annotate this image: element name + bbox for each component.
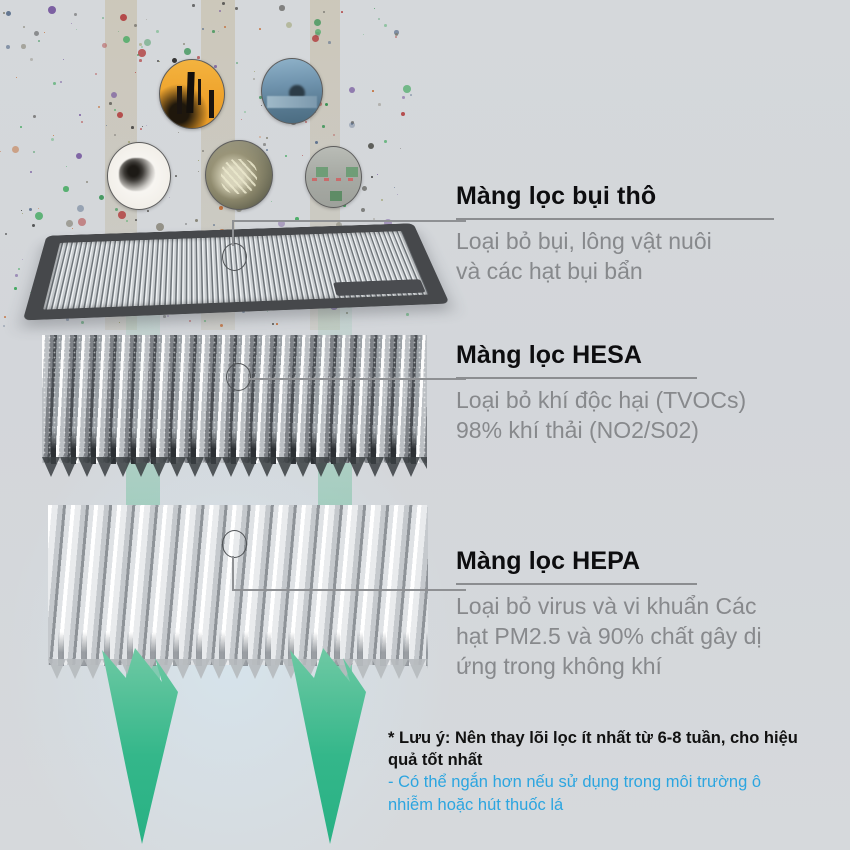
particle [169, 197, 170, 198]
particle [381, 199, 383, 201]
particle [146, 19, 147, 20]
label-title-hesa: Màng lọc HESA [456, 342, 840, 370]
particle [44, 32, 45, 33]
particle [156, 30, 159, 33]
particle [53, 82, 56, 85]
particle [362, 186, 367, 191]
particle [29, 208, 32, 211]
particle [254, 71, 255, 72]
particle [279, 5, 285, 11]
desc-line: Loại bỏ khí độc hại (TVOCs) [456, 385, 840, 415]
particle [286, 22, 292, 28]
callout-circle-icon [222, 243, 247, 271]
particle [99, 195, 104, 200]
particle [63, 59, 64, 60]
particle [142, 126, 143, 127]
particle [6, 45, 10, 49]
callout-leader-line [232, 589, 466, 591]
particle [12, 146, 19, 153]
particle [139, 59, 142, 62]
desc-line: Loại bỏ virus và vi khuẩn Các [456, 591, 840, 621]
particle [372, 90, 374, 92]
desc-line: ứng trong không khí [456, 651, 840, 681]
particle [235, 7, 238, 10]
particle [395, 36, 397, 38]
label-desc-coarse: Loại bỏ bụi, lông vật nuôi và các hạt bụ… [456, 226, 840, 287]
particle [403, 85, 411, 93]
particle [79, 114, 81, 116]
particle [137, 54, 139, 56]
hesa-pleat-tips [42, 457, 427, 477]
particle [20, 126, 22, 128]
particle [86, 181, 88, 183]
particle [302, 155, 303, 156]
hesa-filter [42, 335, 427, 463]
particle [76, 29, 77, 30]
particle [60, 81, 62, 83]
label-block-hepa: Màng lọc HEPA Loại bỏ virus và vi khuẩn … [456, 548, 840, 682]
particle [159, 61, 160, 62]
particle [30, 171, 32, 173]
desc-line: 98% khí thải (NO2/S02) [456, 415, 840, 445]
particle [51, 138, 54, 141]
particle [198, 160, 199, 161]
particle [341, 11, 343, 13]
factory-smokestack-bubble [159, 59, 225, 129]
label-rule [456, 377, 697, 379]
particle [21, 44, 26, 49]
particle [271, 201, 272, 202]
callout-circle-icon [226, 363, 251, 391]
footnote-line: quả tốt nhất [388, 750, 843, 772]
particle [3, 12, 5, 14]
particle [33, 115, 36, 118]
particle [95, 73, 97, 75]
callout-leader-stem [232, 556, 234, 590]
particle [371, 176, 373, 178]
particle [6, 11, 11, 16]
footnote-line: * Lưu ý: Nên thay lõi lọc ít nhất từ 6-8… [388, 728, 843, 750]
particle [157, 60, 159, 62]
callout-leader-line [248, 378, 466, 380]
label-desc-hepa: Loại bỏ virus và vi khuẩn Các hạt PM2.5 … [456, 591, 840, 682]
particle [349, 122, 355, 128]
particle [410, 94, 412, 96]
particle [244, 111, 246, 113]
particle [351, 121, 354, 124]
particle [241, 119, 242, 120]
particle [400, 148, 401, 149]
particle [349, 87, 355, 93]
particle [394, 30, 399, 35]
particle [184, 48, 191, 55]
particle [259, 28, 261, 30]
particle [363, 34, 364, 35]
particle [102, 17, 104, 19]
particle [74, 13, 77, 16]
particle [146, 125, 147, 126]
label-rule [456, 218, 774, 220]
particle [21, 210, 22, 211]
particle [183, 43, 185, 45]
label-desc-hesa: Loại bỏ khí độc hại (TVOCs) 98% khí thải… [456, 385, 840, 446]
particle [141, 46, 143, 48]
particle [236, 62, 238, 64]
particle [98, 106, 100, 108]
label-title-coarse: Màng lọc bụi thô [456, 183, 840, 211]
particle [374, 8, 375, 9]
particle [22, 213, 23, 214]
desc-line: hạt PM2.5 và 90% chất gây dị [456, 621, 840, 651]
particle [378, 18, 380, 20]
particle [16, 77, 17, 78]
label-title-hepa: Màng lọc HEPA [456, 548, 840, 576]
callout-leader-stem [232, 220, 234, 246]
particle [259, 136, 261, 138]
desc-line: và các hạt bụi bẩn [456, 256, 840, 286]
vehicle-exhaust-bubble [261, 58, 323, 124]
particle [23, 26, 25, 28]
particle [368, 143, 374, 149]
particle [377, 174, 378, 175]
callout-leader-line [232, 220, 466, 222]
particle [384, 140, 387, 143]
particle [305, 121, 307, 123]
particle [263, 143, 266, 146]
particle [0, 151, 1, 152]
particle [378, 103, 381, 106]
label-block-coarse: Màng lọc bụi thô Loại bỏ bụi, lông vật n… [456, 183, 840, 286]
particle [18, 268, 20, 270]
particle [395, 33, 398, 36]
airflow-arrow-left [80, 648, 200, 846]
particle [76, 153, 82, 159]
particle [192, 4, 195, 7]
particle [15, 274, 18, 277]
particle [30, 58, 33, 61]
particle [178, 132, 179, 133]
particle [3, 325, 5, 327]
footnote-line: - Có thể ngắn hơn nếu sử dụng trong môi … [388, 772, 843, 794]
particle [63, 186, 69, 192]
particle [285, 155, 287, 157]
footnote-line: nhiễm hoặc hút thuốc lá [388, 795, 843, 817]
particle [71, 23, 72, 24]
particle [175, 175, 177, 177]
particle [14, 287, 17, 290]
particle [34, 31, 39, 36]
particle [38, 40, 40, 42]
particle [48, 6, 56, 14]
particle [53, 135, 54, 136]
particle [266, 137, 268, 139]
particle [5, 233, 7, 235]
particle [397, 194, 398, 195]
particle [4, 316, 6, 318]
particle [266, 149, 268, 151]
footnotes: * Lưu ý: Nên thay lõi lọc ít nhất từ 6-8… [388, 728, 843, 816]
infographic-canvas: Màng lọc bụi thô Loại bỏ bụi, lông vật n… [0, 0, 850, 850]
particle [384, 24, 387, 27]
particle [81, 121, 83, 123]
particle [22, 259, 23, 260]
particle [32, 224, 35, 227]
pollen-bacteria-bubble [205, 140, 273, 210]
label-rule [456, 583, 697, 585]
desc-line: Loại bỏ bụi, lông vật nuôi [456, 226, 840, 256]
callout-circle-icon [222, 530, 247, 558]
particle [138, 49, 146, 57]
label-block-hesa: Màng lọc HESA Loại bỏ khí độc hại (TVOCs… [456, 342, 840, 445]
particle [261, 105, 262, 106]
particle [33, 151, 35, 153]
city-traffic-bubble [305, 146, 362, 208]
particle [401, 112, 405, 116]
mold-soot-bubble [107, 142, 171, 210]
airflow-arrow-right [268, 648, 388, 846]
particle [402, 96, 405, 99]
particle [198, 171, 199, 172]
particle [140, 128, 142, 130]
particle [253, 78, 255, 80]
particle [197, 56, 200, 59]
particle [66, 166, 67, 167]
particle [394, 187, 395, 188]
particle [144, 39, 151, 46]
particle [139, 43, 142, 46]
hepa-filter [48, 505, 428, 665]
particle [351, 123, 353, 125]
